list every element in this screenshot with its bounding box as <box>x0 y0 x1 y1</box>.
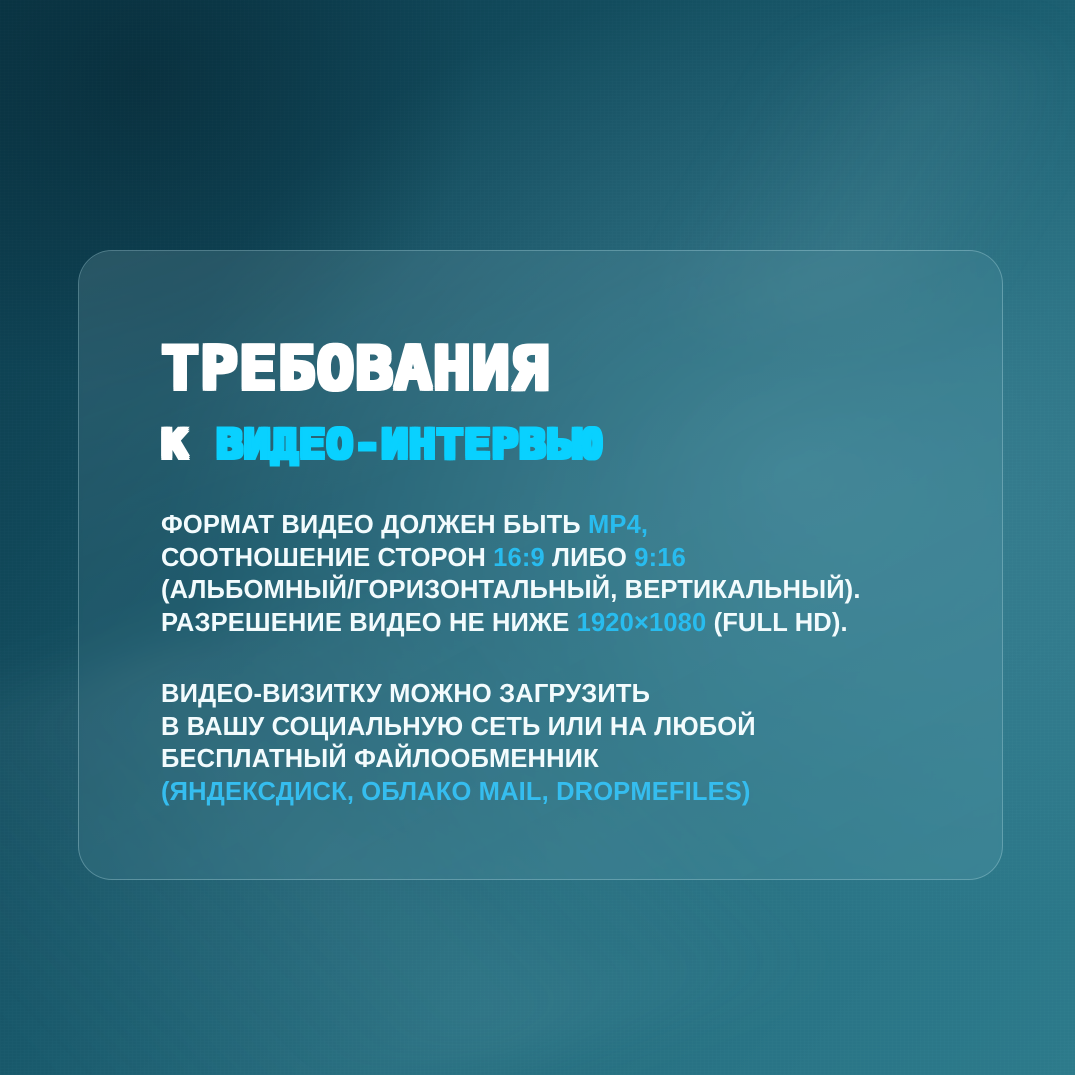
paragraph-upload-instructions: ВИДЕО-ВИЗИТКУ МОЖНО ЗАГРУЗИТЬ В ВАШУ СОЦ… <box>161 678 951 808</box>
format-line-1-text: ФОРМАТ ВИДЕО ДОЛЖЕН БЫТЬ <box>161 511 588 539</box>
format-line-1: ФОРМАТ ВИДЕО ДОЛЖЕН БЫТЬ MP4, <box>161 509 951 542</box>
upload-services-list: (ЯНДЕКСДИСК, ОБЛАКО MAIL, DROPMEFILES) <box>161 776 951 809</box>
aspect-label: СООТНОШЕНИЕ СТОРОН <box>161 544 493 572</box>
resolution-line: РАЗРЕШЕНИЕ ВИДЕО НЕ НИЖЕ 1920×1080 (FULL… <box>161 607 951 640</box>
orientation-line: (АЛЬБОМНЫЙ/ГОРИЗОНТАЛЬНЫЙ, ВЕРТИКАЛЬНЫЙ)… <box>161 574 951 607</box>
page-title: ТРЕБОВАНИЯ <box>161 339 578 399</box>
aspect-value-16-9: 16:9 <box>493 544 545 572</box>
paragraph-video-format: ФОРМАТ ВИДЕО ДОЛЖЕН БЫТЬ MP4, СООТНОШЕНИ… <box>161 509 951 639</box>
format-line-2: СООТНОШЕНИЕ СТОРОН 16:9 ЛИБО 9:16 <box>161 542 951 575</box>
upload-line-3: БЕСПЛАТНЫЙ ФАЙЛООБМЕННИК <box>161 743 951 776</box>
slide-canvas: ТРЕБОВАНИЯ К ВИДЕО-ИНТЕРВЬЮ ФОРМАТ ВИДЕО… <box>0 0 1075 1075</box>
upload-line-2: В ВАШУ СОЦИАЛЬНУЮ СЕТЬ ИЛИ НА ЛЮБОЙ <box>161 711 951 744</box>
format-value-mp4: MP4, <box>588 511 648 539</box>
card-body: ФОРМАТ ВИДЕО ДОЛЖЕН БЫТЬ MP4, СООТНОШЕНИ… <box>161 509 951 808</box>
resolution-value: 1920×1080 <box>577 609 707 637</box>
page-subtitle: К ВИДЕО-ИНТЕРВЬЮ <box>161 425 602 465</box>
aspect-value-9-16: 9:16 <box>634 544 686 572</box>
resolution-suffix: (FULL HD). <box>706 609 847 637</box>
card-title-block: ТРЕБОВАНИЯ К ВИДЕО-ИНТЕРВЬЮ <box>161 339 554 465</box>
upload-line-1: ВИДЕО-ВИЗИТКУ МОЖНО ЗАГРУЗИТЬ <box>161 678 951 711</box>
subtitle-prefix: К <box>161 422 189 468</box>
requirements-card: ТРЕБОВАНИЯ К ВИДЕО-ИНТЕРВЬЮ ФОРМАТ ВИДЕО… <box>78 250 1003 880</box>
subtitle-accent: ВИДЕО-ИНТЕРВЬЮ <box>216 422 601 468</box>
resolution-label: РАЗРЕШЕНИЕ ВИДЕО НЕ НИЖЕ <box>161 609 577 637</box>
aspect-conjunction: ЛИБО <box>545 544 634 572</box>
